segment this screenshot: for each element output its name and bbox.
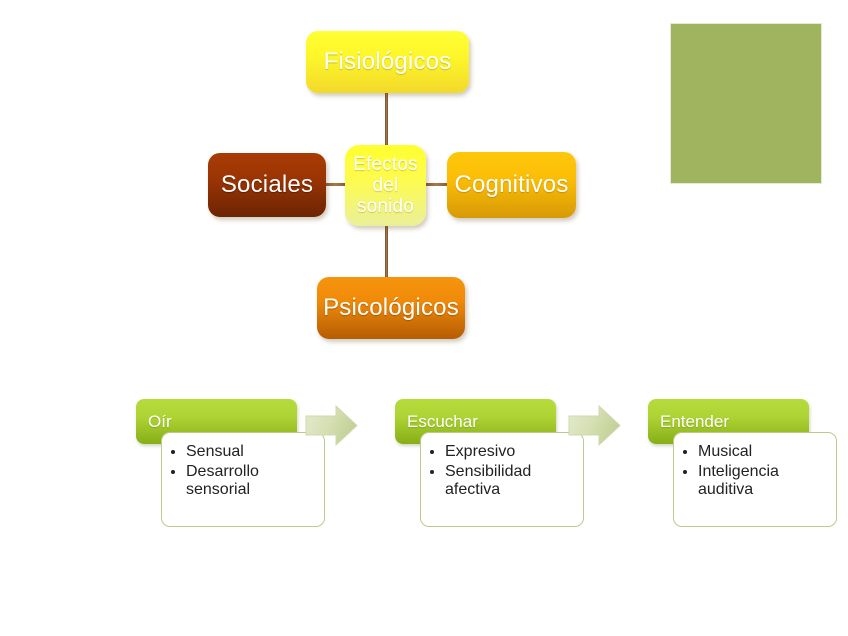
list-item: Desarrollo sensorial	[186, 463, 318, 500]
flow-stage-body: Expresivo Sensibilidad afectiva	[420, 432, 584, 527]
flow-arrow-icon	[568, 405, 621, 447]
flow-stage-title: Entender	[660, 412, 729, 432]
list-item: Inteligencia auditiva	[698, 463, 830, 500]
flow-stage-list: Musical Inteligencia auditiva	[678, 443, 830, 500]
process-flow: Oír Sensual Desarrollo sensorial	[0, 0, 848, 636]
flow-stage-body: Sensual Desarrollo sensorial	[161, 432, 325, 527]
flow-arrow-icon	[305, 405, 358, 447]
list-item: Sensibilidad afectiva	[445, 463, 577, 500]
list-item: Sensual	[186, 443, 318, 462]
list-item: Musical	[698, 443, 830, 462]
slide-canvas: Fisiológicos Sociales Efectos del sonido…	[0, 0, 848, 636]
flow-stage-title: Oír	[148, 412, 172, 432]
flow-stage-title: Escuchar	[407, 412, 478, 432]
flow-stage-body: Musical Inteligencia auditiva	[673, 432, 837, 527]
flow-stage-list: Expresivo Sensibilidad afectiva	[425, 443, 577, 500]
flow-stage-list: Sensual Desarrollo sensorial	[166, 443, 318, 500]
list-item: Expresivo	[445, 443, 577, 462]
